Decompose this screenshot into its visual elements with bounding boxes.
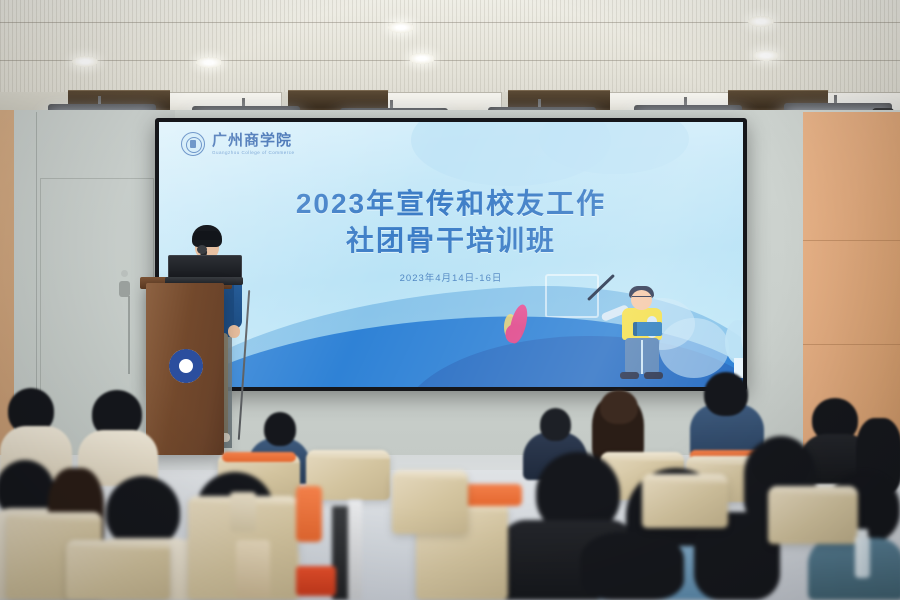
audience-head [580, 532, 684, 600]
water-bottle[interactable] [855, 536, 870, 578]
wall-sensor [119, 281, 130, 297]
microphone-head-icon [197, 245, 207, 254]
slide-logo: 广州商学院 Guangzhou College of Commerce [181, 132, 295, 156]
university-crest-icon [181, 132, 205, 156]
seat-frame [348, 500, 362, 600]
slide-logo-en: Guangzhou College of Commerce [212, 151, 295, 156]
university-seal-icon [169, 349, 203, 383]
seat-cushion [296, 486, 322, 542]
seat-armrest [230, 492, 256, 532]
ceiling-downlight [409, 53, 435, 64]
slide-title-line1: 2023年宣传和校友工作 [296, 188, 606, 219]
audience-member [808, 538, 900, 600]
auditorium-photo: 广州商学院 Guangzhou College of Commerce 2023… [0, 0, 900, 600]
handbag [236, 540, 270, 598]
wall-fixture-dot [121, 270, 128, 277]
audience-head [752, 436, 810, 488]
auditorium-seat [66, 540, 170, 600]
wall-cable [128, 296, 130, 374]
audience-head [704, 372, 748, 416]
ceiling-downlight [753, 50, 779, 61]
seat-cushion [222, 452, 296, 462]
auditorium-seat [392, 470, 468, 534]
presenter-hand [228, 325, 240, 338]
book-icon [633, 322, 662, 336]
slide-logo-cn: 广州商学院 [212, 133, 295, 148]
ceiling-downlight [388, 22, 414, 33]
auditorium-seat [768, 486, 858, 544]
seat-cushion [460, 484, 522, 506]
ceiling-downlight [196, 57, 222, 68]
podium [146, 283, 224, 455]
auditorium-seat [642, 474, 728, 528]
audience-head [264, 412, 296, 446]
ceiling-downlight [748, 16, 774, 27]
slide-teacher-illustration [589, 282, 709, 387]
bottle-cap [857, 529, 868, 538]
audience-head [600, 390, 638, 424]
glasses-icon [632, 296, 651, 301]
audience-head [540, 408, 571, 441]
red-object [296, 566, 336, 596]
ceiling-downlight [72, 56, 98, 67]
